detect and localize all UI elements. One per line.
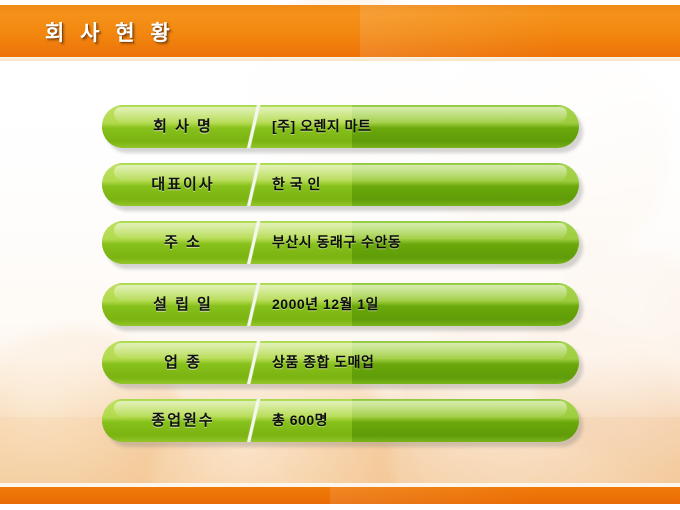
table-row[interactable]: 대표이사 한 국 인 bbox=[102, 163, 579, 207]
slide-canvas: 회 사 현 황 회 사 명 [주] 오렌지 마트 대표이사 한 국 인 bbox=[0, 0, 680, 510]
row-value: 부산시 동래구 수안동 bbox=[272, 221, 401, 264]
row-label: 회 사 명 bbox=[124, 105, 242, 148]
row-value: 2000년 12월 1일 bbox=[272, 283, 379, 326]
row-label: 종업원수 bbox=[124, 399, 242, 442]
table-row[interactable]: 회 사 명 [주] 오렌지 마트 bbox=[102, 105, 579, 149]
footer-base bbox=[0, 504, 680, 510]
row-label: 업 종 bbox=[124, 341, 242, 384]
row-label: 주 소 bbox=[124, 221, 242, 264]
row-value: 한 국 인 bbox=[272, 163, 321, 206]
table-row[interactable]: 설 립 일 2000년 12월 1일 bbox=[102, 283, 579, 327]
row-value: [주] 오렌지 마트 bbox=[272, 105, 371, 148]
footer-bar-sheen bbox=[330, 487, 540, 504]
table-row[interactable]: 업 종 상품 종합 도매업 bbox=[102, 341, 579, 385]
row-label: 대표이사 bbox=[124, 163, 242, 206]
info-table: 회 사 명 [주] 오렌지 마트 대표이사 한 국 인 주 소 부산시 동래구 … bbox=[0, 0, 680, 510]
row-value: 총 600명 bbox=[272, 399, 328, 442]
table-row[interactable]: 종업원수 총 600명 bbox=[102, 399, 579, 443]
row-value: 상품 종합 도매업 bbox=[272, 341, 374, 384]
row-label: 설 립 일 bbox=[124, 283, 242, 326]
table-row[interactable]: 주 소 부산시 동래구 수안동 bbox=[102, 221, 579, 265]
